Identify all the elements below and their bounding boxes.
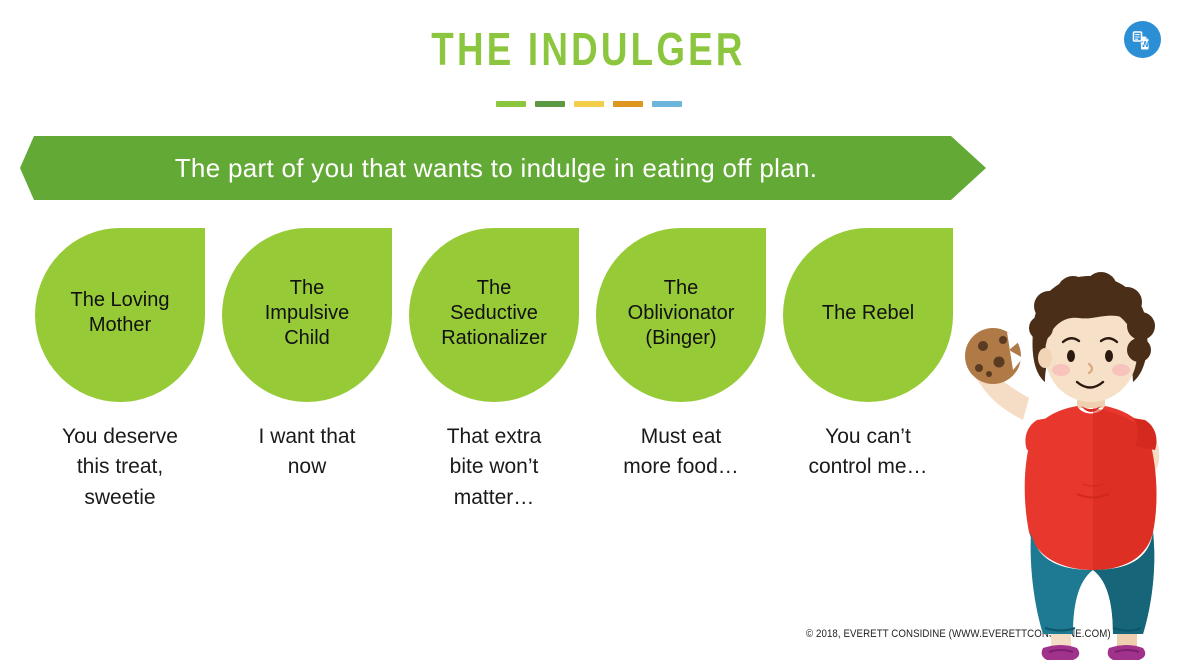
dash-yellow: [574, 101, 604, 107]
part-shape-5[interactable]: The Rebel: [783, 228, 953, 402]
part-label-4: The Oblivionator (Binger): [628, 276, 735, 351]
dash-orange: [613, 101, 643, 107]
divider-dashes: [0, 101, 1177, 107]
woman-holding-cookie-illustration: [937, 270, 1177, 662]
part-label-2: The Impulsive Child: [265, 276, 349, 351]
dash-light-green: [496, 101, 526, 107]
part-label-3: The Seductive Rationalizer: [441, 276, 547, 351]
part-shape-3[interactable]: The Seductive Rationalizer: [409, 228, 579, 402]
part-label-5: The Rebel: [822, 301, 914, 326]
part-caption-1: You deserve this treat, sweetie: [35, 422, 205, 513]
part-shape-4[interactable]: The Oblivionator (Binger): [596, 228, 766, 402]
subtitle-banner-text: The part of you that wants to indulge in…: [175, 153, 831, 184]
word-document-convert-icon[interactable]: W: [1124, 21, 1161, 58]
part-label-1: The Loving Mother: [71, 288, 170, 338]
slide-canvas: THE INDULGER W The part of you that want…: [0, 0, 1177, 662]
part-caption-3: That extra bite won’t matter…: [409, 422, 579, 513]
dash-blue: [652, 101, 682, 107]
page-title: THE INDULGER: [118, 22, 1060, 76]
part-caption-2: I want that now: [222, 422, 392, 513]
captions-row: You deserve this treat, sweetie I want t…: [35, 422, 955, 513]
part-shape-1[interactable]: The Loving Mother: [35, 228, 205, 402]
dash-dark-green: [535, 101, 565, 107]
part-caption-4: Must eat more food…: [596, 422, 766, 513]
part-caption-5: You can’t control me…: [783, 422, 953, 513]
part-shape-2[interactable]: The Impulsive Child: [222, 228, 392, 402]
subtitle-banner: The part of you that wants to indulge in…: [20, 136, 986, 200]
parts-row: The Loving Mother The Impulsive Child Th…: [35, 228, 955, 402]
